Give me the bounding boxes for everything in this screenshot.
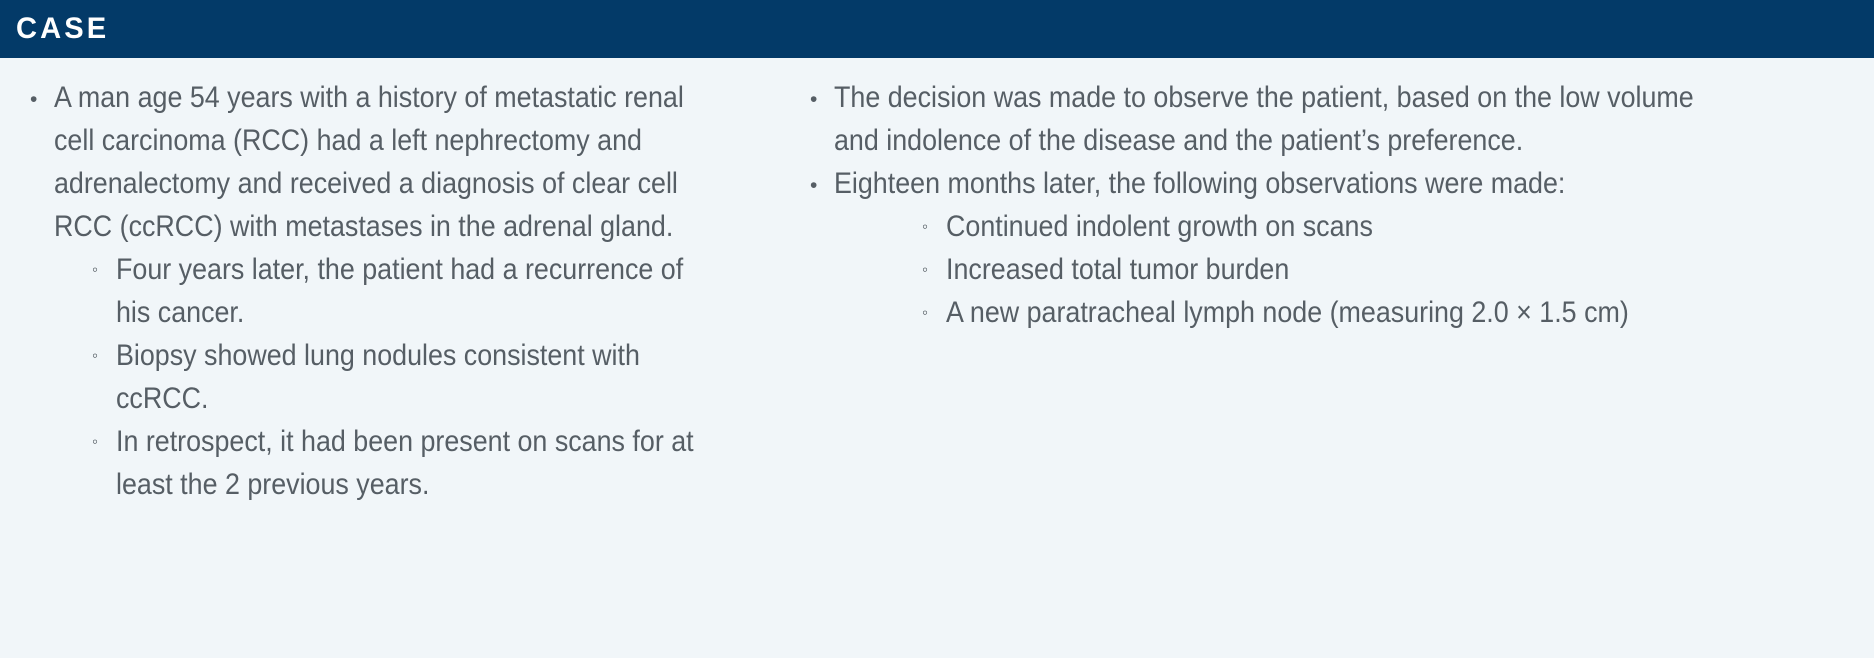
bullet-circle-icon: ◦	[92, 248, 116, 278]
case-body: • A man age 54 years with a history of m…	[0, 58, 1874, 658]
case-column-left: • A man age 54 years with a history of m…	[0, 76, 800, 658]
list-item: ◦ In retrospect, it had been present on …	[92, 420, 790, 506]
bullet-dot-icon: •	[810, 162, 834, 196]
bullet-circle-icon: ◦	[922, 291, 946, 321]
list-item-text: Increased total tumor burden	[946, 248, 1750, 291]
bullet-list-left-secondary: ◦ Four years later, the patient had a re…	[30, 248, 790, 506]
bullet-circle-icon: ◦	[92, 420, 116, 450]
list-item-text: Continued indolent growth on scans	[946, 205, 1750, 248]
bullet-list-right-primary: • The decision was made to observe the p…	[810, 76, 1844, 205]
bullet-dot-icon: •	[810, 76, 834, 110]
list-item-text: A new paratracheal lymph node (measuring…	[946, 291, 1750, 334]
list-item: ◦ Continued indolent growth on scans	[922, 205, 1844, 248]
list-item-text: The decision was made to observe the pat…	[834, 76, 1738, 162]
list-item: ◦ Four years later, the patient had a re…	[92, 248, 790, 334]
case-header-bar: CASE	[0, 0, 1874, 58]
list-item: ◦ Increased total tumor burden	[922, 248, 1844, 291]
list-item-text: Four years later, the patient had a recu…	[116, 248, 719, 334]
list-item-text: A man age 54 years with a history of met…	[54, 76, 713, 248]
bullet-circle-icon: ◦	[922, 205, 946, 235]
list-item: ◦ A new paratracheal lymph node (measuri…	[922, 291, 1844, 334]
list-item-text: In retrospect, it had been present on sc…	[116, 420, 719, 506]
case-column-right: • The decision was made to observe the p…	[800, 76, 1874, 658]
page-title: CASE	[16, 14, 109, 44]
case-panel: CASE • A man age 54 years with a history…	[0, 0, 1874, 658]
bullet-dot-icon: •	[30, 76, 54, 110]
list-item: • A man age 54 years with a history of m…	[30, 76, 790, 248]
list-item: • Eighteen months later, the following o…	[810, 162, 1844, 205]
bullet-circle-icon: ◦	[922, 248, 946, 278]
list-item: ◦ Biopsy showed lung nodules consistent …	[92, 334, 790, 420]
list-item-text: Biopsy showed lung nodules consistent wi…	[116, 334, 719, 420]
list-item-text: Eighteen months later, the following obs…	[834, 162, 1738, 205]
bullet-circle-icon: ◦	[92, 334, 116, 364]
bullet-list-left-primary: • A man age 54 years with a history of m…	[30, 76, 790, 248]
list-item: • The decision was made to observe the p…	[810, 76, 1844, 162]
bullet-list-right-secondary: ◦ Continued indolent growth on scans ◦ I…	[810, 205, 1844, 334]
